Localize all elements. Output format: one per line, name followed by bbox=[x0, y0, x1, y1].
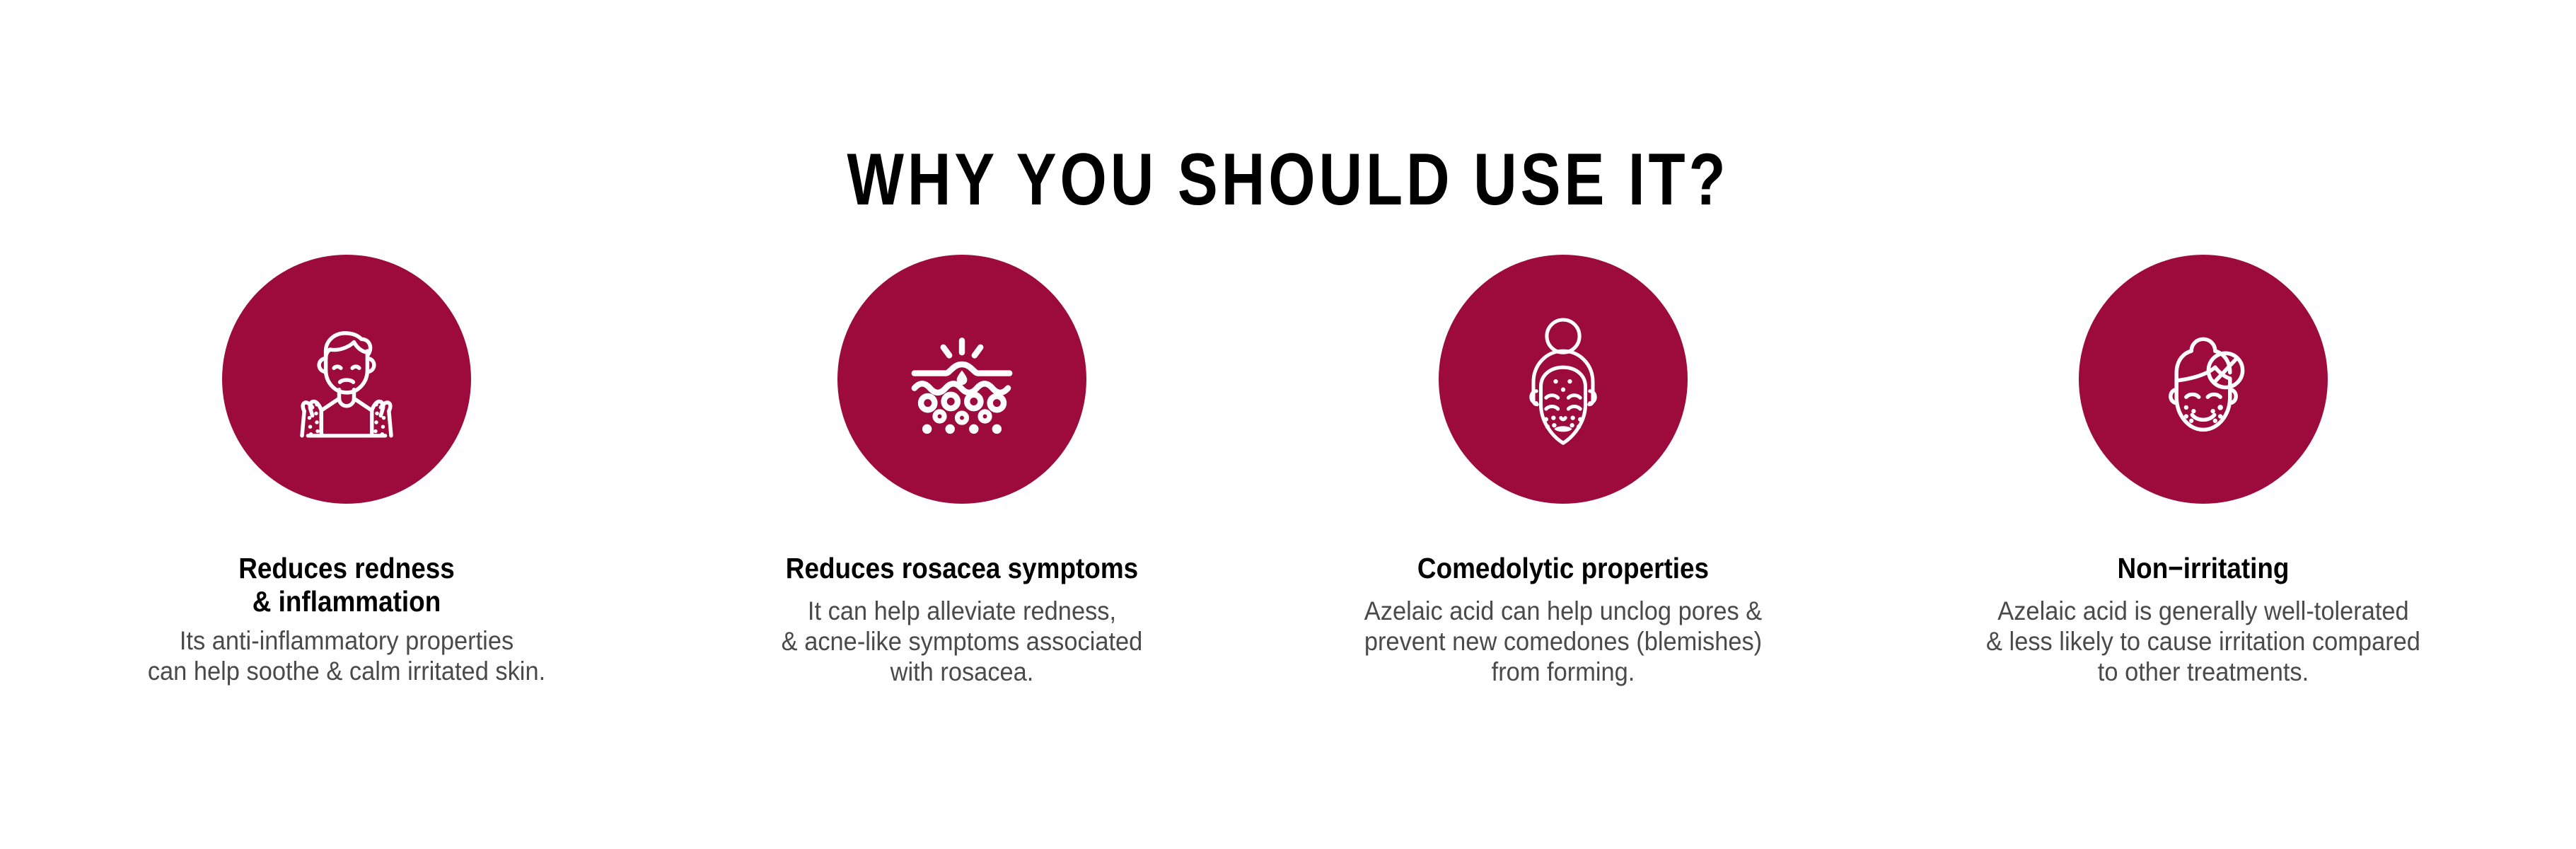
irritated-skin-person-icon bbox=[272, 305, 421, 454]
feature-icon-badge-4 bbox=[2079, 255, 2328, 504]
feature-column-4: Non−irritating Azelaic acid is generally… bbox=[1874, 255, 2532, 687]
feature-columns: Reduces redness & inflammation Its anti-… bbox=[0, 255, 2576, 687]
feature-column-2: Reduces rosacea symptoms It can help all… bbox=[672, 255, 1252, 687]
feature-icon-badge-3 bbox=[1439, 255, 1688, 504]
feature-text-4: Non−irritating Azelaic acid is generally… bbox=[1874, 504, 2532, 687]
feature-text-1: Reduces redness & inflammation Its anti-… bbox=[28, 504, 665, 686]
feature-column-3: Comedolytic properties Azelaic acid can … bbox=[1259, 255, 1867, 687]
feature-title-1: Reduces redness & inflammation bbox=[60, 552, 633, 618]
feature-description-1: Its anti-inflammatory properties can hel… bbox=[51, 625, 643, 686]
feature-title-2: Reduces rosacea symptoms bbox=[701, 552, 1223, 585]
feature-text-3: Comedolytic properties Azelaic acid can … bbox=[1259, 504, 1867, 687]
acne-face-bun-icon bbox=[1489, 305, 1637, 454]
feature-description-3: Azelaic acid can help unclog pores & pre… bbox=[1280, 596, 1846, 687]
feature-column-1: Reduces redness & inflammation Its anti-… bbox=[28, 255, 665, 686]
feature-title-3: Comedolytic properties bbox=[1289, 552, 1837, 585]
infographic-page: WHY YOU SHOULD USE IT? bbox=[0, 0, 2576, 849]
no-irritation-face-icon bbox=[2129, 305, 2278, 454]
skin-layers-cross-section-icon bbox=[888, 305, 1036, 454]
feature-title-4: Non−irritating bbox=[1908, 552, 2500, 585]
page-title: WHY YOU SHOULD USE IT? bbox=[232, 140, 2344, 219]
feature-text-2: Reduces rosacea symptoms It can help all… bbox=[672, 504, 1252, 687]
feature-icon-badge-2 bbox=[837, 255, 1086, 504]
feature-description-2: It can help alleviate redness, & acne-li… bbox=[692, 596, 1232, 687]
feature-description-4: Azelaic acid is generally well-tolerated… bbox=[1898, 596, 2510, 687]
feature-icon-badge-1 bbox=[222, 255, 471, 504]
